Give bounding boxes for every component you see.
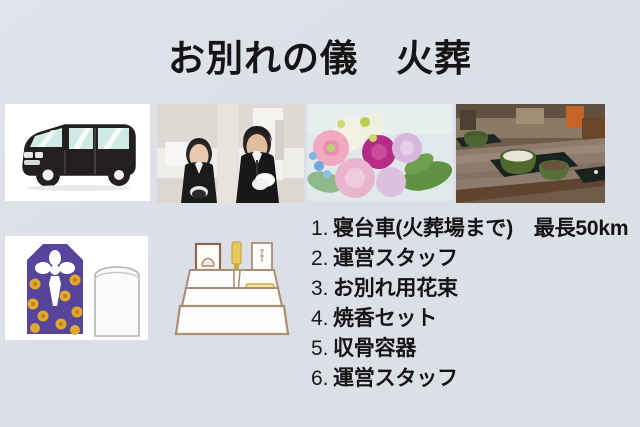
urn-cover-icon <box>5 236 148 340</box>
incense-photo-graphic <box>456 104 605 203</box>
altar-icon <box>162 232 297 342</box>
farewell-bouquet-photo <box>307 104 453 201</box>
list-item-number: 6. <box>311 367 333 391</box>
list-item-label: 寝台車(火葬場まで) 最長50km <box>333 212 628 242</box>
list-item-label: お別れ用花束 <box>333 272 458 302</box>
hearse-van-icon <box>5 104 150 201</box>
funeral-staff-photo <box>157 104 304 203</box>
list-item: 1. 寝台車(火葬場まで) 最長50km <box>311 212 636 242</box>
list-item-number: 1. <box>311 217 333 241</box>
altar-illustration <box>162 232 297 342</box>
list-item-number: 4. <box>311 307 333 331</box>
list-item-label: 運営スタッフ <box>333 362 458 392</box>
list-item-number: 2. <box>311 247 333 271</box>
incense-set-photo <box>456 104 605 203</box>
list-item-label: 焼香セット <box>333 302 437 332</box>
urn-container-image <box>5 236 148 340</box>
hearse-van-illustration <box>5 104 150 201</box>
list-item: 3. お別れ用花束 <box>311 272 636 302</box>
list-item: 4. 焼香セット <box>311 302 636 332</box>
list-item-number: 5. <box>311 337 333 361</box>
list-item: 2. 運営スタッフ <box>311 242 636 272</box>
list-item-label: 収骨容器 <box>333 332 416 362</box>
slide-canvas: お別れの儀 火葬 <box>0 0 640 427</box>
list-item: 6. 運営スタッフ <box>311 362 636 392</box>
included-items-list: 1. 寝台車(火葬場まで) 最長50km 2. 運営スタッフ 3. お別れ用花束… <box>311 212 636 392</box>
staff-photo-graphic <box>157 104 304 203</box>
list-item-number: 3. <box>311 277 333 301</box>
list-item-label: 運営スタッフ <box>333 242 458 272</box>
list-item: 5. 収骨容器 <box>311 332 636 362</box>
bouquet-photo-graphic <box>307 104 453 201</box>
page-title: お別れの儀 火葬 <box>0 38 640 81</box>
